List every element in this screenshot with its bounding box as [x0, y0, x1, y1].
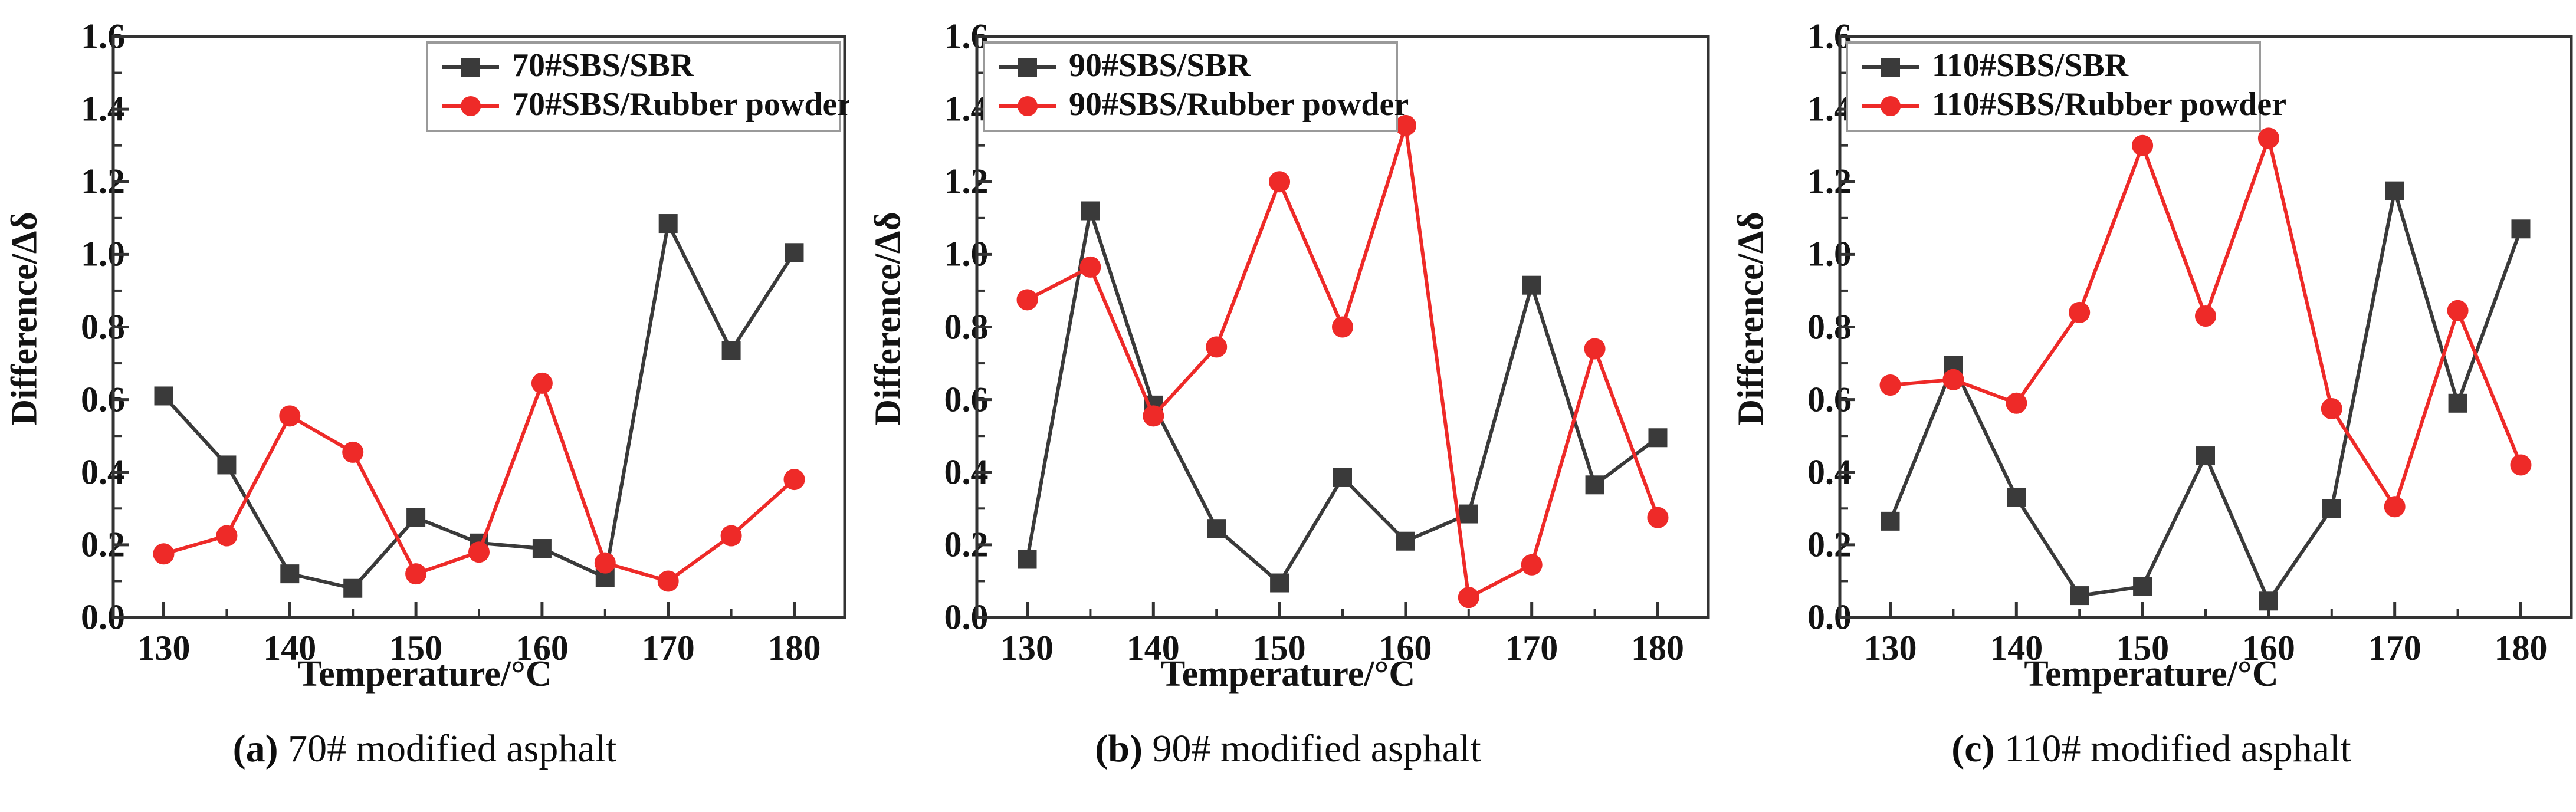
legend-label: 90#SBS/Rubber powder	[1069, 86, 1409, 123]
x-tick-marks	[1891, 602, 2521, 617]
legend-marker-square	[461, 58, 480, 77]
plot-area: Difference/Δδ0.00.20.40.60.81.01.21.41.6…	[0, 0, 849, 702]
data-point-marker	[407, 509, 425, 527]
y-tick-marks	[113, 73, 129, 581]
data-point-marker	[2197, 447, 2214, 465]
data-point-marker	[1143, 406, 1163, 426]
data-point-marker	[1396, 532, 1414, 550]
data-point-marker	[154, 544, 174, 564]
data-point-marker	[2134, 578, 2151, 596]
data-point-marker	[1333, 317, 1353, 337]
data-point-marker	[2069, 303, 2089, 323]
data-point-marker	[2449, 395, 2467, 412]
panel-caption-tag: (b)	[1095, 727, 1143, 770]
series-rubber-powder	[1017, 116, 1668, 607]
legend: 110#SBS/SBR110#SBS/Rubber powder	[1847, 42, 2286, 131]
plot-area: Difference/Δδ0.00.20.40.60.81.01.21.41.6…	[864, 0, 1713, 702]
data-point-marker	[280, 406, 300, 426]
chart-panel-b: Difference/Δδ0.00.20.40.60.81.01.21.41.6…	[864, 0, 1713, 812]
data-point-marker	[595, 553, 615, 573]
data-point-marker	[216, 525, 237, 545]
panel-caption-text: 90# modified asphalt	[1143, 727, 1481, 770]
data-point-marker	[1521, 555, 1541, 575]
data-point-marker	[658, 571, 678, 591]
data-point-marker	[532, 373, 552, 393]
data-point-marker	[2322, 399, 2342, 419]
series-rubber-powder	[154, 373, 805, 591]
data-point-marker	[2385, 497, 2405, 517]
data-point-marker	[784, 469, 804, 489]
legend-label: 70#SBS/SBR	[512, 47, 694, 84]
data-point-marker	[2196, 306, 2216, 326]
panel-caption: (c) 110# modified asphalt	[1727, 726, 2576, 771]
data-point-marker	[1584, 338, 1604, 359]
x-tick-marks	[1027, 602, 1658, 617]
data-point-marker	[1459, 505, 1477, 523]
data-point-marker	[1458, 587, 1478, 607]
data-point-marker	[344, 580, 362, 597]
legend-label: 110#SBS/Rubber powder	[1932, 86, 2286, 123]
data-point-marker	[2260, 592, 2278, 610]
y-tick-marks	[1840, 73, 1855, 581]
data-point-marker	[1018, 551, 1036, 568]
data-point-marker	[1334, 469, 1351, 486]
data-point-marker	[469, 542, 489, 562]
data-point-marker	[785, 244, 803, 261]
data-point-marker	[2006, 393, 2026, 413]
series-sbr	[155, 215, 803, 597]
data-point-marker	[1081, 202, 1099, 220]
data-point-marker	[2323, 499, 2341, 517]
panel-caption-tag: (c)	[1951, 727, 1994, 770]
chart-panel-c: Difference/Δδ0.00.20.40.60.81.01.21.41.6…	[1727, 0, 2576, 812]
legend-marker-circle	[1881, 96, 1901, 116]
data-point-marker	[1271, 574, 1288, 592]
data-point-marker	[533, 540, 551, 557]
data-point-marker	[1207, 520, 1225, 537]
chart-panel-a: Difference/Δδ0.00.20.40.60.81.01.21.41.6…	[0, 0, 849, 812]
data-point-marker	[155, 387, 173, 405]
series-sbr	[1018, 202, 1666, 592]
data-point-marker	[1017, 290, 1037, 310]
legend-marker-circle	[461, 96, 481, 116]
data-point-marker	[281, 565, 298, 583]
data-point-marker	[1648, 508, 1668, 528]
data-point-marker	[2259, 128, 2279, 148]
series-sbr	[1882, 182, 2530, 610]
data-point-marker	[1586, 476, 1603, 494]
plot-svg: 70#SBS/SBR70#SBS/Rubber powder	[0, 0, 849, 702]
legend: 90#SBS/SBR90#SBS/Rubber powder	[984, 42, 1409, 131]
panel-caption: (a) 70# modified asphalt	[0, 726, 849, 771]
data-point-marker	[1882, 512, 1899, 530]
data-point-marker	[1080, 257, 1100, 277]
panel-caption-tag: (a)	[233, 727, 278, 770]
x-tick-marks	[164, 602, 795, 617]
panel-caption-text: 110# modified asphalt	[1994, 727, 2351, 770]
figure-three-panel-line-charts: Difference/Δδ0.00.20.40.60.81.01.21.41.6…	[0, 0, 2576, 812]
data-point-marker	[2132, 136, 2152, 156]
data-point-marker	[218, 456, 235, 474]
data-point-marker	[723, 342, 740, 360]
plot-svg: 90#SBS/SBR90#SBS/Rubber powder	[864, 0, 1713, 702]
data-point-marker	[659, 215, 677, 232]
legend-label: 110#SBS/SBR	[1932, 47, 2129, 84]
data-point-marker	[1522, 277, 1540, 294]
data-point-marker	[2511, 455, 2531, 475]
legend-marker-square	[1881, 58, 1900, 77]
data-point-marker	[1649, 429, 1666, 446]
data-point-marker	[1881, 375, 1901, 395]
data-point-marker	[2512, 220, 2529, 238]
legend-marker-circle	[1018, 96, 1038, 116]
legend-marker-square	[1018, 58, 1037, 77]
plot-area: Difference/Δδ0.00.20.40.60.81.01.21.41.6…	[1727, 0, 2576, 702]
legend-label: 90#SBS/SBR	[1069, 47, 1251, 84]
panel-caption: (b) 90# modified asphalt	[864, 726, 1713, 771]
y-tick-marks	[977, 73, 992, 581]
panel-caption-text: 70# modified asphalt	[278, 727, 617, 770]
legend-label: 70#SBS/Rubber powder	[512, 86, 849, 123]
data-point-marker	[721, 525, 741, 545]
data-point-marker	[2007, 489, 2025, 507]
data-point-marker	[343, 442, 363, 462]
data-point-marker	[1943, 370, 1963, 390]
plot-svg: 110#SBS/SBR110#SBS/Rubber powder	[1727, 0, 2576, 702]
data-point-marker	[1269, 172, 1289, 192]
data-point-marker	[2386, 182, 2404, 200]
data-point-marker	[1206, 337, 1226, 357]
data-point-marker	[406, 564, 426, 584]
legend: 70#SBS/SBR70#SBS/Rubber powder	[427, 42, 849, 131]
data-point-marker	[2070, 587, 2088, 604]
data-point-marker	[2448, 301, 2468, 321]
